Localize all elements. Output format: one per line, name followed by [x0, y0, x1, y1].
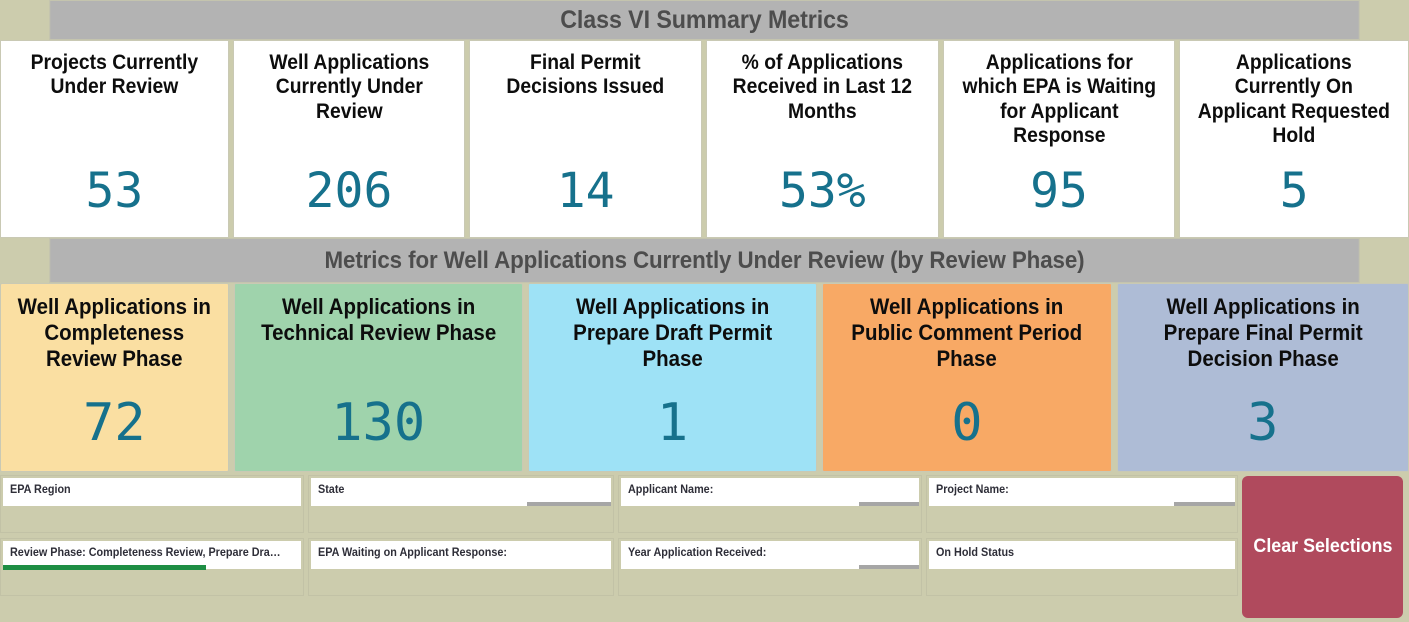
kpi-card-applicant-requested-hold[interactable]: Applications Currently On Applicant Requ…	[1179, 40, 1409, 238]
filter-label: EPA Waiting on Applicant Response:	[318, 547, 593, 559]
filter-applicant-name[interactable]: Applicant Name:	[618, 475, 922, 533]
filter-on-hold-status[interactable]: On Hold Status	[926, 538, 1238, 596]
phase-value: 72	[1, 397, 228, 449]
phase-value: 3	[1118, 397, 1408, 449]
phase-title: Well Applications in Prepare Final Permi…	[1135, 294, 1390, 372]
filter-scrollbar-thumb[interactable]	[859, 565, 919, 569]
filter-scrollbar[interactable]	[621, 565, 919, 569]
summary-metrics-row: Projects Currently Under Review 53 Well …	[0, 40, 1409, 238]
phase-card-prepare-final-permit-decision[interactable]: Well Applications in Prepare Final Permi…	[1117, 283, 1409, 472]
filter-label: Project Name:	[936, 484, 1217, 496]
phase-card-prepare-draft-permit[interactable]: Well Applications in Prepare Draft Permi…	[528, 283, 817, 472]
kpi-value: 5	[1180, 167, 1408, 215]
filter-row-1: EPA Region State Applicant	[0, 475, 1238, 533]
filter-panel: EPA Region State Applicant	[0, 472, 1238, 622]
filter-scrollbar[interactable]	[929, 502, 1235, 506]
kpi-card-waiting-applicant-response[interactable]: Applications for which EPA is Waiting fo…	[943, 40, 1176, 238]
filter-selection-bar[interactable]	[3, 565, 206, 570]
kpi-card-well-applications-under-review[interactable]: Well Applications Currently Under Review…	[233, 40, 466, 238]
phase-card-completeness-review[interactable]: Well Applications in Completeness Review…	[0, 283, 229, 472]
clear-selections-button[interactable]: Clear Selections	[1242, 476, 1403, 618]
filter-label: State	[318, 484, 593, 496]
filter-state[interactable]: State	[308, 475, 614, 533]
kpi-value: 53	[1, 167, 228, 215]
filter-epa-region[interactable]: EPA Region	[0, 475, 304, 533]
filter-scrollbar-thumb[interactable]	[859, 502, 919, 506]
filter-scrollbar[interactable]	[3, 565, 301, 569]
filter-label: Review Phase: Completeness Review, Prepa…	[10, 547, 284, 559]
kpi-title: Final Permit Decisions Issued	[485, 51, 686, 100]
kpi-value: 53%	[707, 167, 938, 215]
filter-scrollbar[interactable]	[3, 502, 301, 506]
kpi-title: Applications Currently On Applicant Requ…	[1195, 51, 1393, 148]
filter-input[interactable]: State	[311, 478, 611, 502]
filter-scrollbar[interactable]	[621, 502, 919, 506]
kpi-value: 206	[234, 167, 465, 215]
phase-title: Well Applications in Technical Review Ph…	[252, 294, 504, 346]
review-phase-row: Well Applications in Completeness Review…	[0, 283, 1409, 472]
filter-label: Year Application Received:	[628, 547, 902, 559]
filter-scrollbar[interactable]	[929, 565, 1235, 569]
filter-input[interactable]: Review Phase: Completeness Review, Prepa…	[3, 541, 301, 565]
summary-metrics-header: Class VI Summary Metrics	[49, 0, 1359, 40]
phase-card-public-comment-period[interactable]: Well Applications in Public Comment Peri…	[822, 283, 1111, 472]
filter-label: On Hold Status	[936, 547, 1217, 559]
kpi-value: 95	[944, 167, 1175, 215]
phase-title: Well Applications in Completeness Review…	[16, 294, 212, 372]
filter-label: Applicant Name:	[628, 484, 902, 496]
kpi-title: Well Applications Currently Under Review	[248, 51, 449, 124]
phase-value: 130	[235, 397, 522, 449]
filter-scrollbar[interactable]	[311, 502, 611, 506]
filter-input[interactable]: On Hold Status	[929, 541, 1235, 565]
filter-epa-waiting-on-applicant-response[interactable]: EPA Waiting on Applicant Response:	[308, 538, 614, 596]
dashboard-root: Class VI Summary Metrics Projects Curren…	[0, 0, 1409, 622]
phase-card-technical-review[interactable]: Well Applications in Technical Review Ph…	[234, 283, 523, 472]
filter-project-name[interactable]: Project Name:	[926, 475, 1238, 533]
clear-selections-wrapper: Clear Selections	[1242, 472, 1409, 622]
filter-label: EPA Region	[10, 484, 284, 496]
kpi-title: Projects Currently Under Review	[16, 51, 214, 100]
filter-year-application-received[interactable]: Year Application Received:	[618, 538, 922, 596]
filter-scrollbar-thumb[interactable]	[527, 502, 611, 506]
filter-scrollbar-thumb[interactable]	[1174, 502, 1235, 506]
filter-area: EPA Region State Applicant	[0, 472, 1409, 622]
filter-input[interactable]: EPA Waiting on Applicant Response:	[311, 541, 611, 565]
filter-input[interactable]: EPA Region	[3, 478, 301, 502]
filter-scrollbar[interactable]	[311, 565, 611, 569]
kpi-card-percent-received-last-12-months[interactable]: % of Applications Received in Last 12 Mo…	[706, 40, 939, 238]
filter-review-phase[interactable]: Review Phase: Completeness Review, Prepa…	[0, 538, 304, 596]
filter-input[interactable]: Applicant Name:	[621, 478, 919, 502]
kpi-title: % of Applications Received in Last 12 Mo…	[722, 51, 923, 124]
clear-selections-label: Clear Selections	[1253, 536, 1392, 558]
filter-input[interactable]: Year Application Received:	[621, 541, 919, 565]
phase-value: 1	[529, 397, 816, 449]
phase-value: 0	[823, 397, 1110, 449]
filter-row-2: Review Phase: Completeness Review, Prepa…	[0, 538, 1238, 596]
kpi-value: 14	[470, 167, 701, 215]
kpi-title: Applications for which EPA is Waiting fo…	[958, 51, 1159, 148]
filter-input[interactable]: Project Name:	[929, 478, 1235, 502]
phase-title: Well Applications in Prepare Draft Permi…	[546, 294, 798, 372]
kpi-card-final-permit-decisions[interactable]: Final Permit Decisions Issued 14	[469, 40, 702, 238]
phase-title: Well Applications in Public Comment Peri…	[841, 294, 1093, 372]
review-phase-metrics-header: Metrics for Well Applications Currently …	[49, 238, 1359, 283]
kpi-card-projects-under-review[interactable]: Projects Currently Under Review 53	[0, 40, 229, 238]
